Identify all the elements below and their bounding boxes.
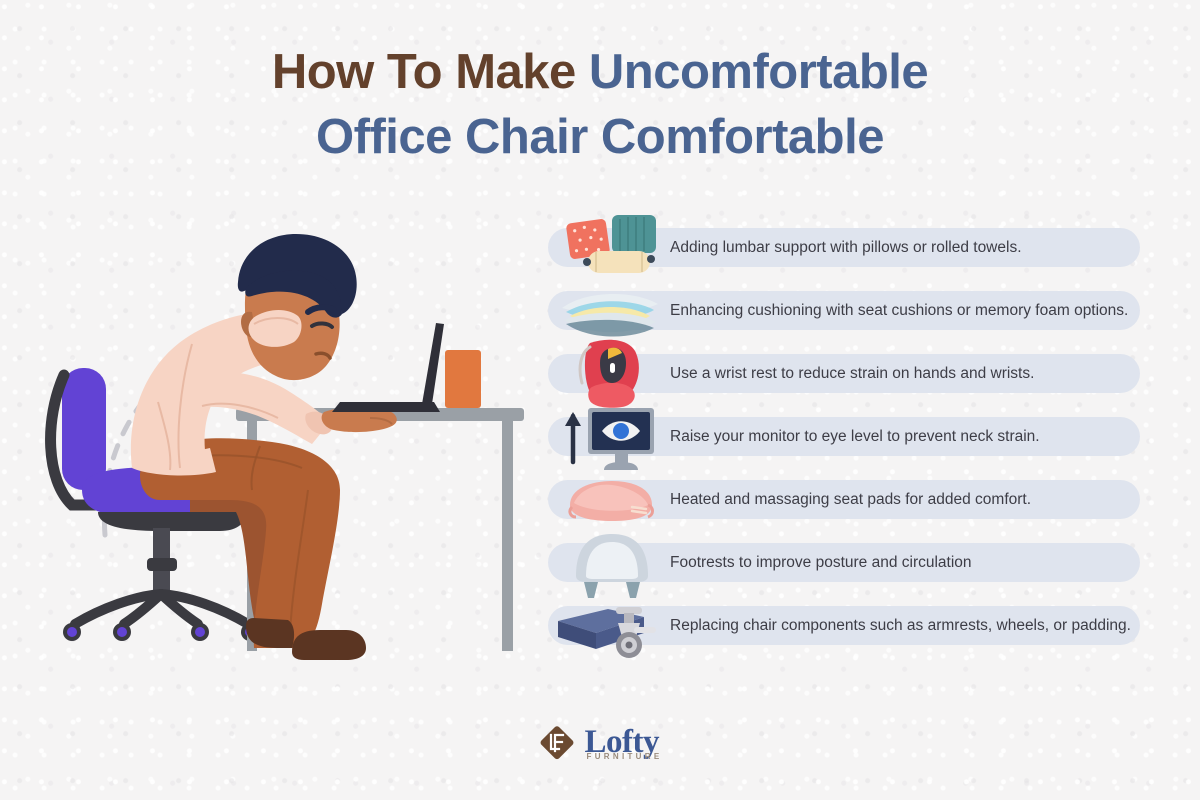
desk-worker-illustration <box>40 190 550 690</box>
title-part-brown: How To Make <box>272 45 576 99</box>
coffee-cup <box>445 350 481 408</box>
list-item[interactable]: Heated and massaging seat pads for added… <box>548 480 1148 519</box>
tip-text: Use a wrist rest to reduce strain on han… <box>670 354 1034 393</box>
title-part-blue: Uncomfortable <box>576 45 928 99</box>
list-item[interactable]: Use a wrist rest to reduce strain on han… <box>548 354 1148 393</box>
infographic-canvas: How To Make Uncomfortable Office Chair C… <box>0 0 1200 800</box>
logo-wordmark: Lofty FURNITURE <box>585 726 663 761</box>
tip-text: Enhancing cushioning with seat cushions … <box>670 291 1128 330</box>
list-item[interactable]: Enhancing cushioning with seat cushions … <box>548 291 1148 330</box>
list-item[interactable]: Footrests to improve posture and circula… <box>548 543 1148 582</box>
up-arrow-icon <box>565 412 581 462</box>
list-item[interactable]: Replacing chair components such as armre… <box>548 606 1148 645</box>
chair-seat-shell <box>98 512 246 531</box>
logo-subtitle: FURNITURE <box>587 753 663 761</box>
tips-list: Adding lumbar support with pillows or ro… <box>548 228 1148 669</box>
tip-text: Adding lumbar support with pillows or ro… <box>670 228 1022 267</box>
laptop-screen <box>422 323 444 404</box>
desk-leg-right <box>502 421 513 651</box>
chair-caster-cushion-icon <box>556 589 664 663</box>
chair-casters <box>63 623 259 641</box>
tip-text: Raise your monitor to eye level to preve… <box>670 417 1040 456</box>
tip-text: Footrests to improve posture and circula… <box>670 543 972 582</box>
tip-text: Heated and massaging seat pads for added… <box>670 480 1031 519</box>
shoe-front <box>292 630 366 660</box>
title-line-2: Office Chair Comfortable <box>0 105 1200 170</box>
chair-cylinder-collar <box>147 558 177 571</box>
arm <box>198 372 330 444</box>
brand-logo[interactable]: Lofty FURNITURE <box>0 724 1200 762</box>
laptop <box>332 323 444 412</box>
title-line-1: How To Make Uncomfortable <box>0 40 1200 105</box>
lofty-diamond-monogram-icon <box>538 724 576 762</box>
list-item[interactable]: Adding lumbar support with pillows or ro… <box>548 228 1148 267</box>
laptop-keyboard-base <box>332 402 440 412</box>
list-item[interactable]: Raise your monitor to eye level to preve… <box>548 417 1148 456</box>
tip-text: Replacing chair components such as armre… <box>670 606 1131 645</box>
page-title: How To Make Uncomfortable Office Chair C… <box>0 40 1200 170</box>
chair-base-legs <box>75 594 248 624</box>
chair-backrest <box>62 368 106 490</box>
